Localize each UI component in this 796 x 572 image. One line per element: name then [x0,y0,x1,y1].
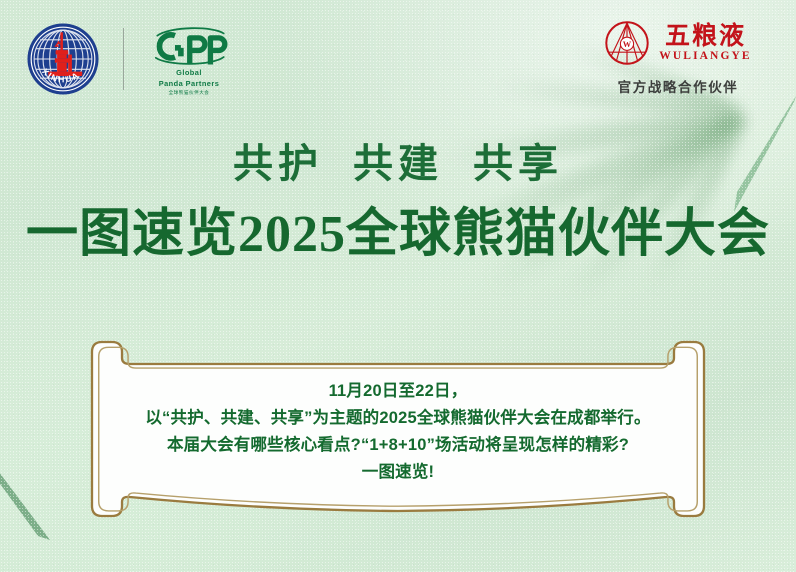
gpp-logo: Global Panda Partners 全球熊猫伙伴大会 [141,26,237,98]
wuliangye-logo-block: W 五粮液 WULIANGYE 官方战略合作伙伴 [584,18,772,96]
wuliangye-en-wordmark: WULIANGYE [659,51,751,63]
body-frame: 11月20日至22日， 以“共护、共建、共享”为主题的2025全球熊猫伙伴大会在… [72,334,724,530]
body-line-4: 一图速览! [362,459,435,486]
title-slogan: 共护 共建 共享 [0,142,796,186]
logo-divider [123,28,124,90]
gpp-cn-label: 全球熊猫伙伴大会 [141,90,237,96]
poster-canvas: XINHUA Global Panda Partners 全球熊猫伙伴大会 [0,0,796,572]
title-block: 共护 共建 共享 一图速览2025全球熊猫伙伴大会 [0,142,796,265]
wuliangye-partner-subtitle: 官方战略合作伙伴 [584,76,772,96]
wuliangye-monogram: W [623,39,632,49]
gpp-en-line1: Global [141,68,237,77]
body-line-1: 11月20日至22日， [329,378,468,405]
bamboo-leaf-bottom-left [0,466,64,556]
wuliangye-emblem-icon: W [604,20,650,66]
title-main: 一图速览2025全球熊猫伙伴大会 [0,204,796,265]
gpp-en-line2: Panda Partners [141,79,237,88]
xinhua-logo-icon: XINHUA [26,22,100,96]
body-line-3: 本届大会有哪些核心看点?“1+8+10”场活动将呈现怎样的精彩? [167,432,629,459]
gpp-monogram-icon [141,26,237,66]
body-line-2: 以“共护、共建、共享”为主题的2025全球熊猫伙伴大会在成都举行。 [145,405,650,432]
wuliangye-cn-wordmark: 五粮液 [665,24,746,49]
header-bar: XINHUA Global Panda Partners 全球熊猫伙伴大会 [0,0,796,110]
body-text-group: 11月20日至22日， 以“共护、共建、共享”为主题的2025全球熊猫伙伴大会在… [72,334,724,530]
